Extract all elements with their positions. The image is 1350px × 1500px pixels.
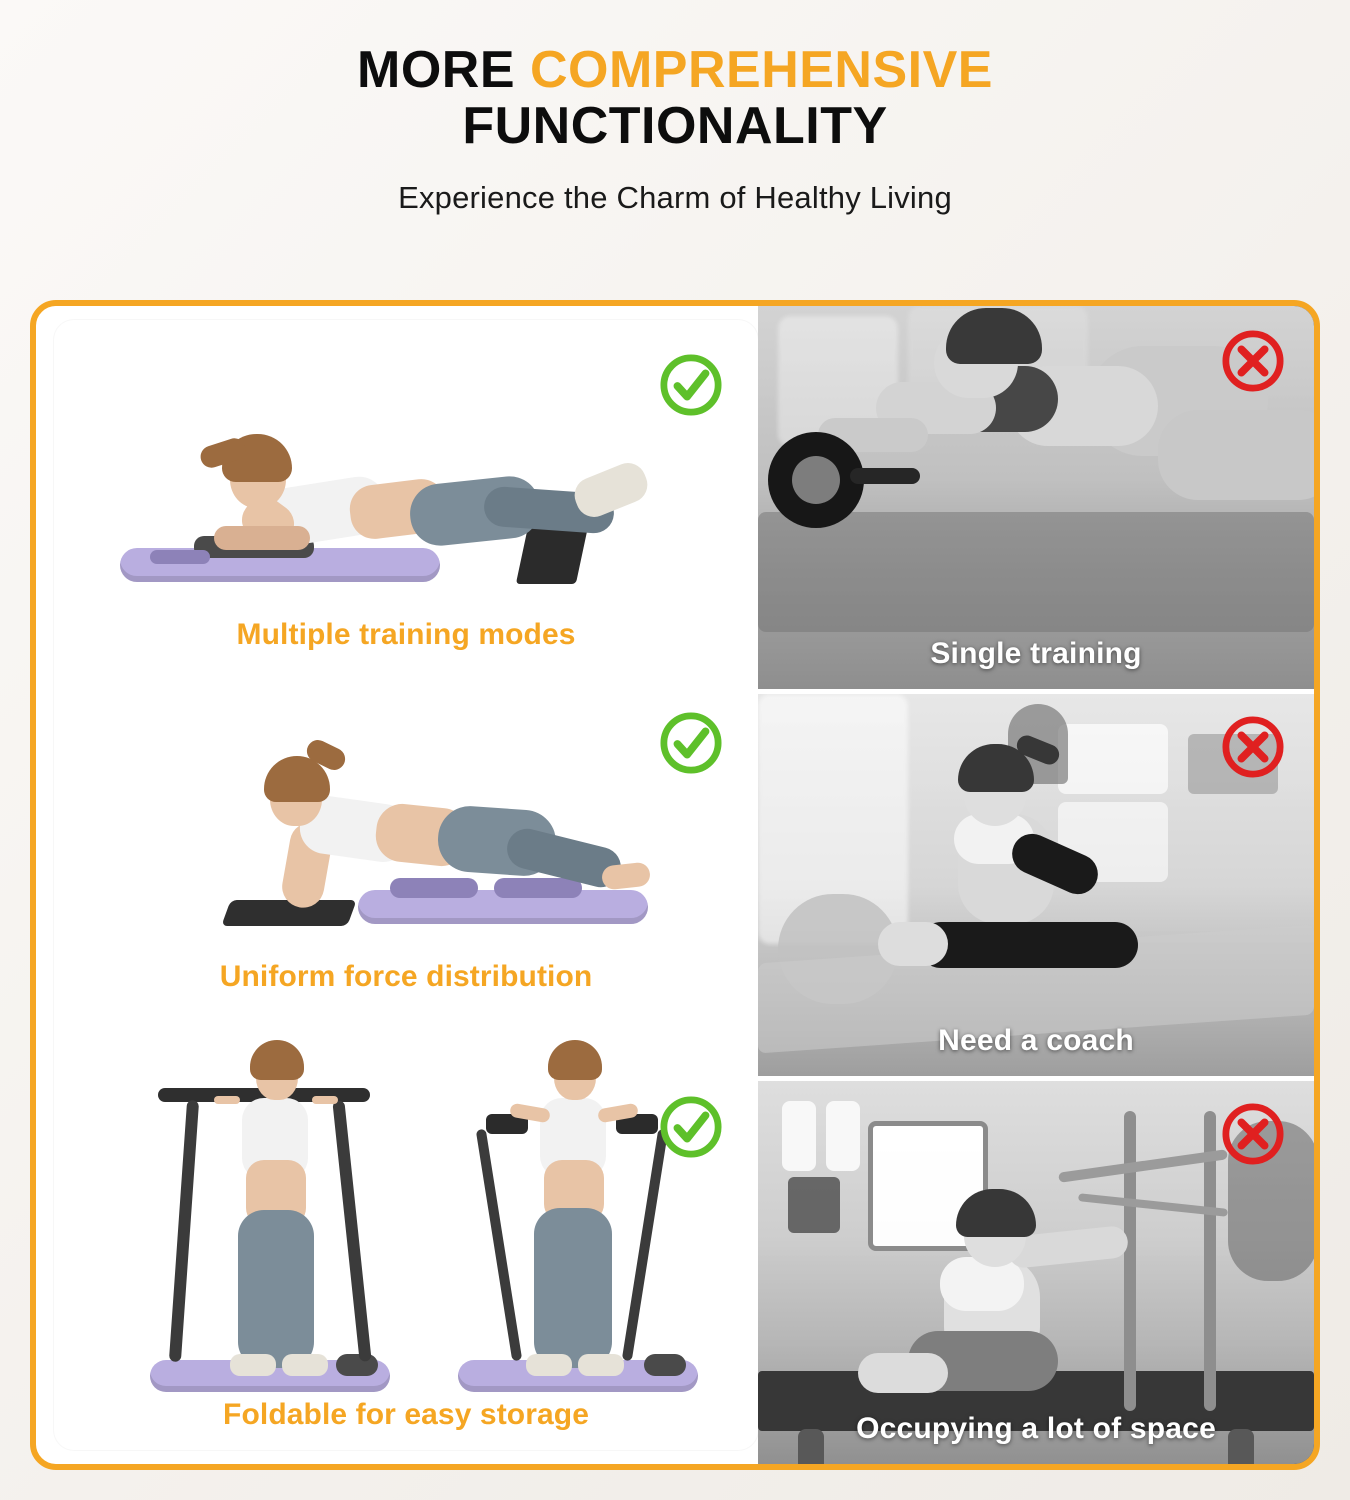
page-subtitle: Experience the Charm of Healthy Living: [0, 180, 1350, 216]
board-roller-left: [336, 1354, 378, 1376]
good-caption-1: Multiple training modes: [54, 618, 758, 652]
resistance-band-left: [169, 1100, 199, 1362]
bad-item-2: Need a coach: [758, 694, 1314, 1082]
ab-roller-handle: [850, 468, 920, 484]
figure-hair-left: [250, 1040, 304, 1080]
good-caption-2: Uniform force distribution: [54, 960, 758, 994]
figure-legs: [918, 922, 1138, 968]
green-check-icon: [660, 712, 722, 774]
scene-woman-kneeling-pushup-on-board: [54, 672, 758, 1002]
bad-item-1: Single training: [758, 306, 1314, 694]
page-title-part-more: MORE: [357, 41, 530, 99]
green-check-icon: [660, 1096, 722, 1158]
figure-foot: [878, 922, 948, 966]
figure-hair-right: [548, 1040, 602, 1080]
reformer-tower-post-1: [1124, 1111, 1136, 1411]
figure-shoe-left-b: [282, 1354, 328, 1376]
bad-caption-1: Single training: [758, 637, 1314, 671]
page-header: MORE COMPREHENSIVE FUNCTIONALITY Experie…: [0, 0, 1350, 216]
red-cross-icon: [1222, 716, 1284, 778]
figure-top: [940, 1257, 1024, 1311]
board-detail-left: [150, 550, 210, 564]
bad-item-3: Occupying a lot of space: [758, 1081, 1314, 1464]
promo-page: MORE COMPREHENSIVE FUNCTIONALITY Experie…: [0, 0, 1350, 1500]
figure-shoe-right-a: [526, 1354, 572, 1376]
figure-feet: [858, 1353, 948, 1393]
ab-roller-hub: [792, 456, 840, 504]
gym-floor: [758, 512, 1314, 632]
green-check-icon: [660, 354, 722, 416]
wall-strap-1: [782, 1101, 816, 1171]
good-item-1: Multiple training modes: [54, 330, 758, 660]
resistance-band-right: [332, 1100, 371, 1362]
figure-forearm: [214, 526, 310, 550]
page-title-part-comprehensive: COMPREHENSIVE: [530, 41, 993, 99]
board-knee-pad: [390, 878, 478, 898]
bad-caption-2: Need a coach: [758, 1024, 1314, 1058]
figure-arm-left-a: [214, 1096, 240, 1104]
red-cross-icon: [1222, 1103, 1284, 1165]
good-item-3: Foldable for easy storage: [54, 1010, 758, 1450]
figure-hair: [946, 308, 1042, 364]
bad-caption-3: Occupying a lot of space: [758, 1412, 1314, 1446]
resistance-band-right-b: [622, 1129, 668, 1362]
figure-legs-right: [534, 1208, 612, 1368]
shelf-box-1: [1058, 724, 1168, 794]
figure-shoe-right-b: [578, 1354, 624, 1376]
page-title-line-2: FUNCTIONALITY: [0, 98, 1350, 154]
figure-legs: [1158, 410, 1314, 500]
board-knee-pad-2: [494, 878, 582, 898]
good-column: Multiple training modes: [36, 306, 758, 1464]
figure-shoe-left-a: [230, 1354, 276, 1376]
resistance-band-right-a: [476, 1129, 522, 1362]
good-item-2: Uniform force distribution: [54, 672, 758, 1002]
bad-column: Single training: [758, 306, 1314, 1464]
wall-anchor: [788, 1177, 840, 1233]
figure-arm-left-b: [312, 1096, 338, 1104]
page-title-line-1: MORE COMPREHENSIVE: [0, 42, 1350, 98]
red-cross-icon: [1222, 330, 1284, 392]
board-roller-right: [644, 1354, 686, 1376]
comparison-frame: Multiple training modes: [30, 300, 1320, 1470]
scene-woman-plank-on-board: [54, 330, 758, 660]
figure-foot: [601, 862, 651, 891]
good-panel: Multiple training modes: [54, 320, 758, 1450]
figure-legs-left: [238, 1210, 314, 1368]
scene-woman-standing-with-bar-and-handles: [54, 1010, 758, 1450]
foot-block: [516, 526, 588, 584]
good-caption-3: Foldable for easy storage: [54, 1398, 758, 1432]
floor-mat: [221, 900, 356, 926]
wall-strap-2: [826, 1101, 860, 1171]
